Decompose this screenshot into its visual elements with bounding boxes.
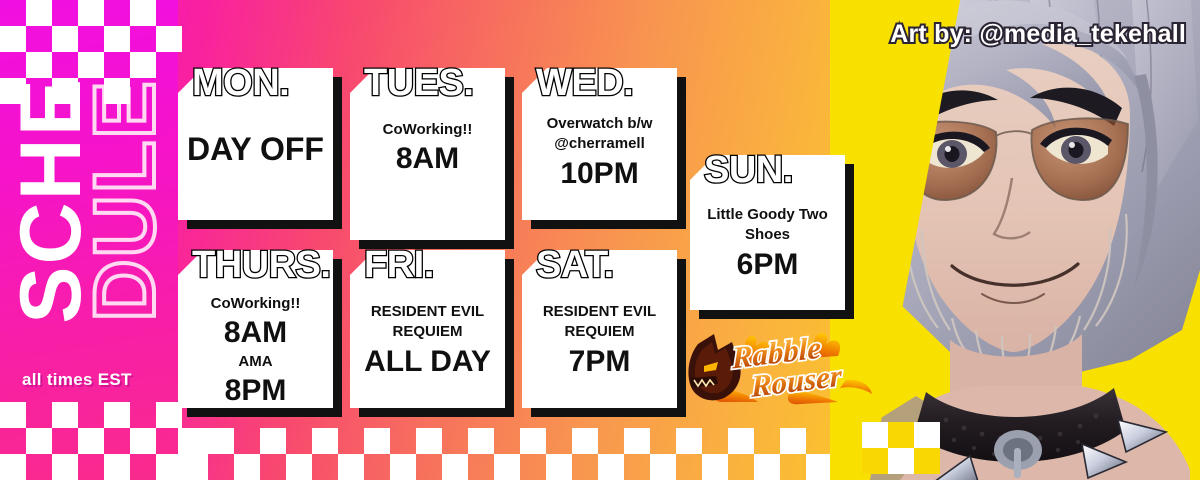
checker-cell [416,428,442,454]
card-line: Little Goody Two [690,205,845,225]
checker-cell [468,428,494,454]
checker-cell [78,428,104,454]
checker-cell [914,448,940,474]
schedule-card-fri[interactable]: FRI.RESIDENT EVILREQUIEMALL DAY [350,250,505,408]
checker-cell [650,454,676,480]
card-line: Shoes [690,225,845,245]
card-line: 7PM [522,343,677,381]
checker-cell [546,454,572,480]
checker-cell [156,402,182,428]
checker-cell [130,52,156,78]
checker-cell [52,78,78,104]
schedule-card-tues[interactable]: TUES.CoWorking!!8AM [350,68,505,240]
card-line: REQUIEM [522,322,677,342]
day-label: MON. [192,64,289,102]
schedule-card-mon[interactable]: MON.DAY OFF [178,68,333,220]
checker-cell [78,0,104,26]
schedule-card-sat[interactable]: SAT.RESIDENT EVILREQUIEM7PM [522,250,677,408]
checker-cell [494,454,520,480]
checker-cell [364,428,390,454]
checker-cell [130,428,156,454]
checker-cell [312,428,338,454]
card-line: ALL DAY [350,343,505,381]
card-line: AMA [178,352,333,372]
checker-cell [130,0,156,26]
timezone-note: all times EST [22,370,132,390]
day-label: FRI. [364,246,434,284]
checker-cell [52,26,78,52]
card-line: CoWorking!! [178,294,333,314]
checker-cell [104,26,130,52]
checker-cell [598,454,624,480]
checker-cell [754,454,780,480]
checker-cell [260,428,286,454]
card-line: RESIDENT EVIL [522,302,677,322]
day-label: SAT. [536,246,614,284]
card-line: 10PM [522,155,677,193]
checker-bottom-left [0,402,208,480]
schedule-card-thurs[interactable]: THURS.CoWorking!!8AMAMA8PM [178,250,333,408]
checker-cell [0,78,26,104]
day-label: WED. [536,64,633,102]
rabble-rouser-logo: Rabble Rouser [688,332,886,406]
checker-top-left [0,0,182,104]
checker-cell [572,428,598,454]
card-line: DAY OFF [178,130,333,168]
checker-cell [0,26,26,52]
checker-cell [390,454,416,480]
checker-cell [780,428,806,454]
checker-cell [52,454,78,480]
checker-cell [702,454,728,480]
card-body: RESIDENT EVILREQUIEM7PM [522,302,677,380]
character-artwork [830,0,1200,480]
day-label: THURS. [192,246,330,284]
checker-cell [862,448,888,474]
day-label: SUN. [704,151,793,189]
schedule-poster: SCHE DULE all times EST [0,0,1200,480]
card-body: CoWorking!!8AMAMA8PM [178,294,333,410]
checker-cell [52,402,78,428]
checker-cell [676,428,702,454]
checker-cell [156,26,182,52]
checker-cell [182,428,208,454]
day-label: TUES. [364,64,473,102]
checker-cell [104,454,130,480]
schedule-card-sun[interactable]: SUN.Little Goody TwoShoes6PM [690,155,845,310]
checker-cell [728,428,754,454]
checker-cell [862,422,888,448]
checker-cell [104,402,130,428]
checker-cell [914,422,940,448]
checker-cell [26,52,52,78]
card-line: 8AM [350,140,505,178]
card-body: CoWorking!!8AM [350,120,505,178]
checker-cell [0,454,26,480]
card-body: Overwatch b/w@cherramell10PM [522,114,677,192]
card-body: Little Goody TwoShoes6PM [690,205,845,283]
checker-cell [286,454,312,480]
checker-cell [156,454,182,480]
checker-cell [888,422,914,448]
card-body: RESIDENT EVILREQUIEMALL DAY [350,302,505,380]
card-line: REQUIEM [350,322,505,342]
card-line: 6PM [690,246,845,284]
checker-cell [0,402,26,428]
card-line: CoWorking!! [350,120,505,140]
checker-cell [888,448,914,474]
schedule-card-wed[interactable]: WED.Overwatch b/w@cherramell10PM [522,68,677,220]
art-credit: Art by: @media_tekehall [890,20,1186,49]
card-line: 8AM [178,314,333,352]
checker-cell [26,428,52,454]
card-line: RESIDENT EVIL [350,302,505,322]
card-line: Overwatch b/w [522,114,677,134]
checker-cell [26,0,52,26]
checker-cell [338,454,364,480]
checker-cell [208,428,234,454]
checker-cell [78,52,104,78]
card-line: @cherramell [522,134,677,154]
card-body: DAY OFF [178,130,333,168]
checker-cell [624,428,650,454]
checker-cell [806,454,832,480]
checker-cell [104,78,130,104]
checker-cell [442,454,468,480]
checker-cell [234,454,260,480]
checker-cell [520,428,546,454]
